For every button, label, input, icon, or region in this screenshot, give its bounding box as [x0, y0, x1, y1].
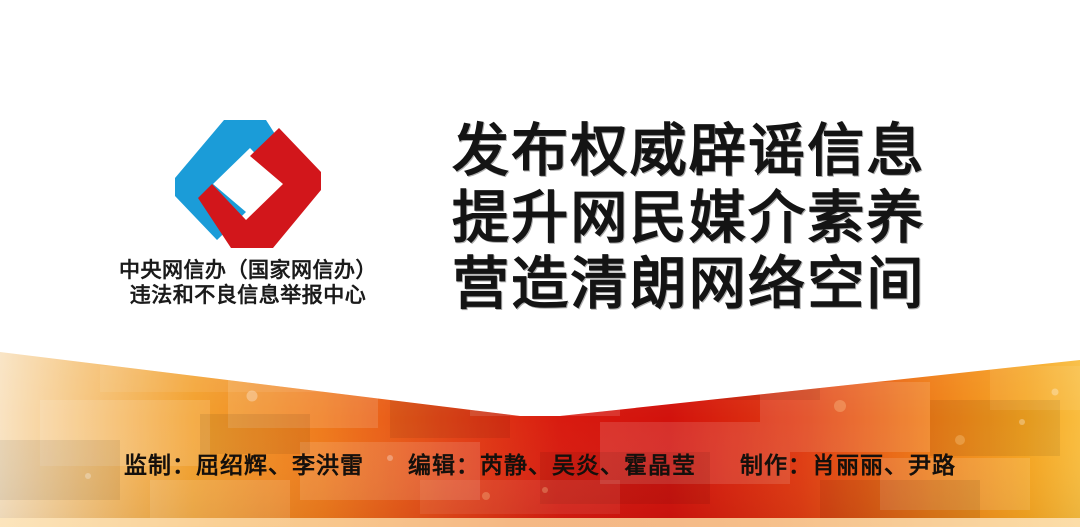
slogan-line-3: 营造清朗网络空间	[452, 251, 952, 318]
slogan-block: 发布权威辟谣信息 提升网民媒介素养 营造清朗网络空间	[452, 118, 952, 318]
logo-text-line-1: 中央网信办（国家网信办）	[119, 258, 377, 283]
poster-root: 中央网信办（国家网信办） 违法和不良信息举报中心 发布权威辟谣信息 提升网民媒介…	[0, 0, 1080, 527]
interlocking-chevron-logo-icon	[173, 118, 323, 250]
banner-graphic	[0, 330, 1080, 527]
decorative-color-banner	[0, 330, 1080, 527]
slogan-line-2: 提升网民媒介素养	[452, 185, 952, 252]
organization-logo-text: 中央网信办（国家网信办） 违法和不良信息举报中心	[119, 258, 377, 308]
organization-logo-block: 中央网信办（国家网信办） 违法和不良信息举报中心	[78, 118, 418, 318]
logo-text-line-2: 违法和不良信息举报中心	[119, 283, 377, 308]
slogan-line-1: 发布权威辟谣信息	[452, 118, 952, 185]
